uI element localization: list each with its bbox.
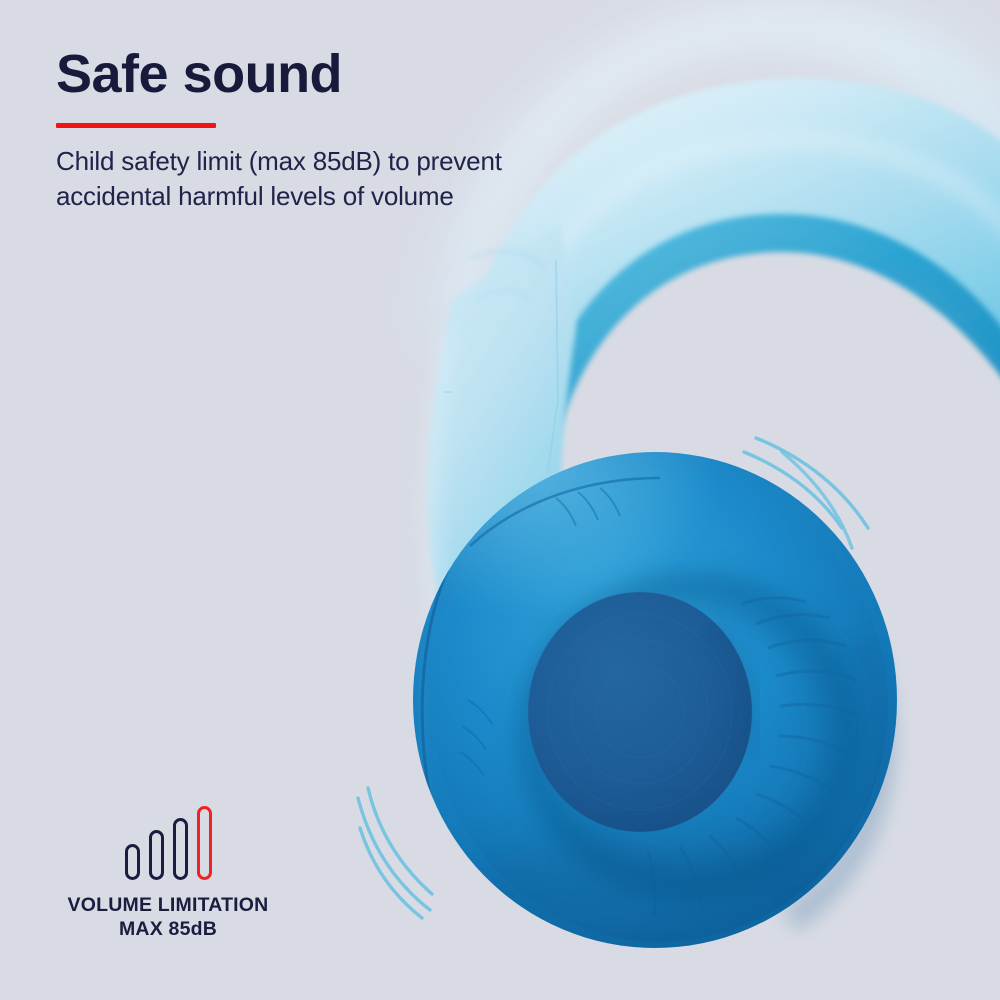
badge-label: VOLUME LIMITATION MAX 85dB bbox=[52, 894, 284, 942]
product-feature-graphic: Safe sound Child safety limit (max 85dB)… bbox=[0, 0, 1000, 1000]
volume-bar-4-limit bbox=[197, 806, 212, 880]
volume-bars-icon bbox=[52, 806, 284, 880]
feature-description-line-2: accidental harmful levels of volume bbox=[56, 181, 454, 211]
volume-limitation-badge: VOLUME LIMITATION MAX 85dB bbox=[52, 806, 284, 942]
volume-bar-1 bbox=[125, 844, 140, 880]
volume-bar-3 bbox=[173, 818, 188, 880]
feature-description: Child safety limit (max 85dB) to prevent… bbox=[56, 144, 676, 214]
title-underline-rule bbox=[56, 123, 216, 128]
volume-bar-2 bbox=[149, 830, 164, 880]
badge-label-line-1: VOLUME LIMITATION bbox=[52, 894, 284, 918]
badge-label-line-2: MAX 85dB bbox=[52, 918, 284, 942]
feature-text-block: Safe sound Child safety limit (max 85dB)… bbox=[56, 46, 676, 213]
feature-description-line-1: Child safety limit (max 85dB) to prevent bbox=[56, 146, 502, 176]
page-title: Safe sound bbox=[56, 46, 676, 103]
